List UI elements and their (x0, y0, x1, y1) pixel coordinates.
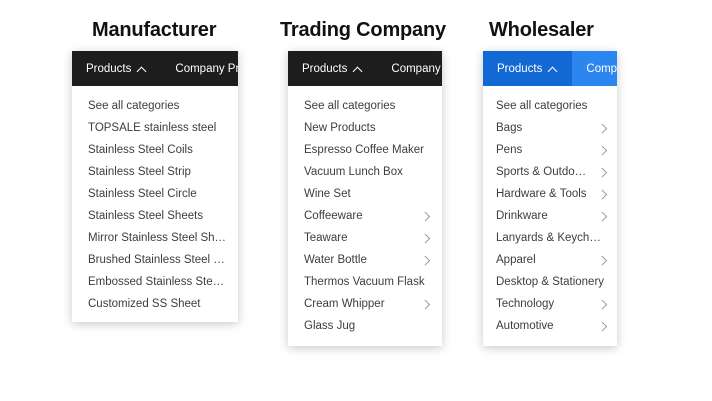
list-item-label: Stainless Steel Coils (88, 139, 193, 161)
list-item-label: Stainless Steel Sheets (88, 205, 203, 227)
list-item[interactable]: Customized SS Sheet (72, 293, 238, 315)
nav-item-products[interactable]: Products (288, 51, 377, 86)
list-item-label: Hardware & Tools (496, 183, 587, 205)
nav-item-label: Company (391, 63, 440, 75)
list-item-label: Wine Set (304, 183, 351, 205)
list-item-label: See all categories (88, 95, 179, 117)
list-item[interactable]: Brushed Stainless Steel Sh... (72, 249, 238, 271)
list-item-label: Water Bottle (304, 249, 367, 271)
list-item-label: Teaware (304, 227, 347, 249)
category-menu-list: See all categories Bags Pens Sports & Ou… (483, 86, 617, 346)
column-manufacturer: Manufacturer Products Company Profile Se… (72, 0, 238, 42)
chevron-right-icon (421, 256, 430, 265)
column-wholesaler: Wholesaler Products Compan See all categ… (483, 0, 617, 42)
nav-item-label: Company Profile (175, 63, 238, 75)
list-item-label: Thermos Vacuum Flask (304, 271, 425, 293)
list-item-label: Stainless Steel Circle (88, 183, 197, 205)
category-menu-list: See all categories New Products Espresso… (288, 86, 442, 346)
chevron-up-icon (138, 66, 147, 75)
list-item[interactable]: Pens (483, 139, 617, 161)
list-item-label: Brushed Stainless Steel Sh... (88, 249, 228, 271)
nav-item-company[interactable]: Company (377, 51, 442, 86)
list-item[interactable]: See all categories (483, 95, 617, 117)
column-title: Trading Company (280, 0, 442, 42)
nav-item-label: Compan (586, 63, 617, 75)
list-item-label: New Products (304, 117, 376, 139)
column-title: Wholesaler (489, 0, 617, 42)
list-item[interactable]: Vacuum Lunch Box (288, 161, 442, 183)
list-item-label: Technology (496, 293, 554, 315)
panel-navbar: Products Compan (483, 51, 617, 86)
list-item-label: Mirror Stainless Steel Sheet (88, 227, 228, 249)
list-item[interactable]: Thermos Vacuum Flask (288, 271, 442, 293)
panel-navbar: Products Company (288, 51, 442, 86)
dropdown-panel: Products Company See all categories New … (288, 51, 442, 346)
category-menu-list: See all categories TOPSALE stainless ste… (72, 86, 238, 322)
list-item-label: Lanyards & Keychains (496, 227, 607, 249)
list-item[interactable]: TOPSALE stainless steel (72, 117, 238, 139)
list-item-label: Pens (496, 139, 522, 161)
chevron-right-icon (421, 234, 430, 243)
chevron-right-icon (598, 124, 607, 133)
list-item-label: Apparel (496, 249, 536, 271)
list-item[interactable]: Teaware (288, 227, 442, 249)
list-item[interactable]: Hardware & Tools (483, 183, 617, 205)
list-item-label: Espresso Coffee Maker (304, 139, 424, 161)
nav-item-products[interactable]: Products (72, 51, 161, 86)
nav-item-label: Products (497, 63, 542, 75)
chevron-right-icon (598, 190, 607, 199)
chevron-right-icon (598, 256, 607, 265)
list-item[interactable]: Cream Whipper (288, 293, 442, 315)
list-item[interactable]: Lanyards & Keychains (483, 227, 617, 249)
list-item[interactable]: Mirror Stainless Steel Sheet (72, 227, 238, 249)
list-item[interactable]: Stainless Steel Circle (72, 183, 238, 205)
list-item-label: Bags (496, 117, 522, 139)
list-item-label: See all categories (496, 95, 587, 117)
chevron-right-icon (421, 300, 430, 309)
chevron-up-icon (549, 66, 558, 75)
list-item[interactable]: Drinkware (483, 205, 617, 227)
list-item[interactable]: See all categories (288, 95, 442, 117)
list-item[interactable]: Stainless Steel Strip (72, 161, 238, 183)
list-item[interactable]: Automotive (483, 315, 617, 337)
list-item-label: See all categories (304, 95, 395, 117)
list-item-label: Embossed Stainless Steel ... (88, 271, 228, 293)
list-item-label: Drinkware (496, 205, 548, 227)
list-item[interactable]: Coffeeware (288, 205, 442, 227)
column-trading-company: Trading Company Products Company See all… (288, 0, 442, 42)
dropdown-panel: Products Compan See all categories Bags … (483, 51, 617, 346)
list-item-label: Coffeeware (304, 205, 363, 227)
nav-item-label: Products (302, 63, 347, 75)
chevron-right-icon (598, 212, 607, 221)
list-item[interactable]: Stainless Steel Coils (72, 139, 238, 161)
chevron-right-icon (598, 168, 607, 177)
list-item-label: Cream Whipper (304, 293, 385, 315)
nav-item-products[interactable]: Products (483, 51, 572, 86)
nav-item-company-profile[interactable]: Company Profile (161, 51, 238, 86)
list-item[interactable]: Water Bottle (288, 249, 442, 271)
list-item[interactable]: Apparel (483, 249, 617, 271)
list-item[interactable]: Stainless Steel Sheets (72, 205, 238, 227)
list-item-label: Automotive (496, 315, 554, 337)
nav-item-company[interactable]: Compan (572, 51, 617, 86)
column-title: Manufacturer (92, 0, 238, 42)
list-item[interactable]: New Products (288, 117, 442, 139)
chevron-right-icon (598, 300, 607, 309)
list-item-label: Vacuum Lunch Box (304, 161, 403, 183)
dropdown-panel: Products Company Profile See all categor… (72, 51, 238, 322)
list-item[interactable]: Technology (483, 293, 617, 315)
chevron-right-icon (421, 212, 430, 221)
list-item-label: TOPSALE stainless steel (88, 117, 216, 139)
list-item[interactable]: Espresso Coffee Maker (288, 139, 442, 161)
list-item[interactable]: Bags (483, 117, 617, 139)
list-item[interactable]: Glass Jug (288, 315, 442, 337)
list-item[interactable]: Desktop & Stationery (483, 271, 617, 293)
list-item-label: Sports & Outdoors (496, 161, 590, 183)
list-item[interactable]: Sports & Outdoors (483, 161, 617, 183)
list-item-label: Stainless Steel Strip (88, 161, 191, 183)
list-item-label: Desktop & Stationery (496, 271, 604, 293)
chevron-right-icon (598, 322, 607, 331)
screenshot-stage: Manufacturer Products Company Profile Se… (0, 0, 712, 401)
list-item[interactable]: Wine Set (288, 183, 442, 205)
list-item[interactable]: Embossed Stainless Steel ... (72, 271, 238, 293)
nav-item-label: Products (86, 63, 131, 75)
list-item-label: Glass Jug (304, 315, 355, 337)
list-item[interactable]: See all categories (72, 95, 238, 117)
list-item-label: Customized SS Sheet (88, 293, 201, 315)
chevron-right-icon (598, 146, 607, 155)
panel-navbar: Products Company Profile (72, 51, 238, 86)
chevron-up-icon (354, 66, 363, 75)
